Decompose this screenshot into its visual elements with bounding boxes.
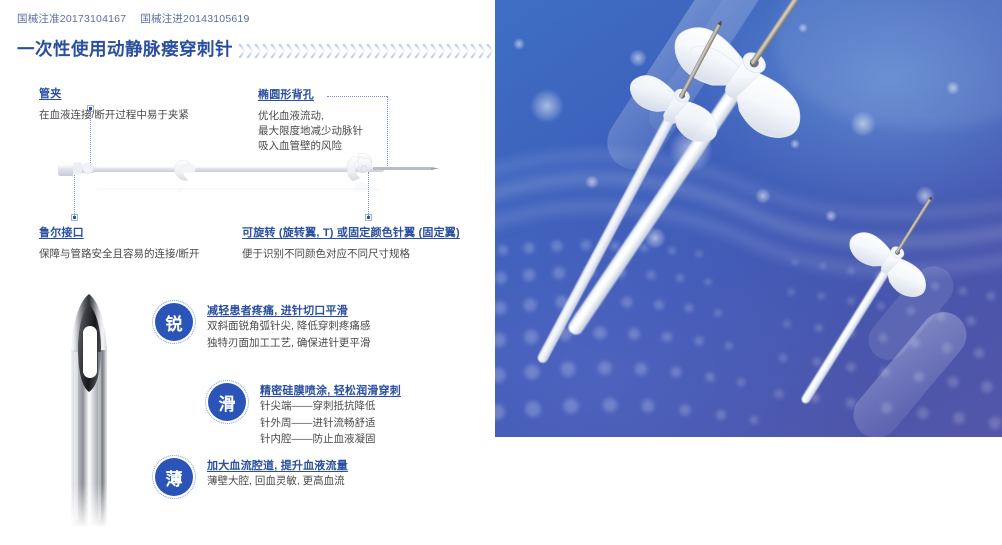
feature-sharp-body: 减轻患者疼痛, 进针切口平滑 双斜面锐角弧针尖, 降低穿刺疼痛感 独特刃面加工工… [207,300,370,351]
badge-thin-label: 薄 [155,458,193,496]
feature-smooth-line-1: 针尖端——穿刺抵抗降低 [260,399,401,415]
feature-sharp-line-1: 双斜面锐角弧针尖, 降低穿刺疼痛感 [207,319,370,335]
needle-tip-closeup-image [58,288,136,538]
callout-luer: 鲁尔接口 保障与管路安全且容易的连接/断开 [39,224,199,262]
callout-wings-title: 可旋转 (旋转翼, T) 或固定颜色针翼 (固定翼) [242,224,460,240]
page-title: 一次性使用动静脉瘘穿刺针 [17,36,233,61]
feature-smooth-badge: 滑 [205,380,249,424]
callout-clamp-line-1: 在血液连接/断开过程中易于夹紧 [39,108,189,123]
feature-thin-line-1: 薄壁大腔, 回血灵敏, 更高血流 [207,474,348,490]
feature-smooth-body: 精密硅膜喷涂, 轻松润滑穿刺 针尖端——穿刺抵抗降低 针外周——进针流畅舒适 针… [260,380,401,448]
callout-back-hole: 椭圆形背孔 优化血液流动, 最大限度地减少动脉针 吸入血管壁的风险 [258,86,363,154]
callout-luer-title: 鲁尔接口 [39,224,199,240]
callout-wings-line-1: 便于识别不同颜色对应不同尺寸规格 [242,247,460,262]
left-content-panel: 国械注准20173104167国械注进20143105619 一次性使用动静脉瘘… [0,0,495,545]
badge-sharp-label: 锐 [155,303,193,341]
registration-numbers: 国械注准20173104167国械注进20143105619 [17,11,264,26]
header-row: 一次性使用动静脉瘘穿刺针 [17,36,482,64]
feature-smooth-title: 精密硅膜喷涂, 轻松润滑穿刺 [260,382,401,398]
feature-sharp-line-2: 独特刃面加工工艺, 确保进针更平滑 [207,336,370,352]
callout-clamp: 管夹 在血液连接/断开过程中易于夹紧 [39,85,189,123]
badge-smooth-label: 滑 [208,383,246,421]
registration-number-1: 国械注准20173104167 [17,13,126,25]
registration-number-2: 国械注进20143105619 [140,13,249,25]
feature-smooth-line-3: 针内腔——防止血液凝固 [260,432,401,448]
feature-sharp: 锐 减轻患者疼痛, 进针切口平滑 双斜面锐角弧针尖, 降低穿刺疼痛感 独特刃面加… [152,300,370,351]
feature-thin-title: 加大血流腔道, 提升血液流量 [207,457,348,473]
feature-sharp-title: 减轻患者疼痛, 进针切口平滑 [207,302,370,318]
fistula-needle-schematic [55,150,455,230]
right-product-panel: 一次性使用 动静脉瘘穿刺针 [495,0,1002,545]
callout-back-hole-line-2: 最大限度地减少动脉针 [258,124,363,139]
callout-clamp-title: 管夹 [39,85,189,101]
brochure-page: 国械注准20173104167国械注进20143105619 一次性使用动静脉瘘… [0,0,1002,545]
feature-thin: 薄 加大血流腔道, 提升血液流量 薄壁大腔, 回血灵敏, 更高血流 [152,455,348,499]
callout-back-hole-line-1: 优化血液流动, [258,109,363,124]
feature-thin-body: 加大血流腔道, 提升血液流量 薄壁大腔, 回血灵敏, 更高血流 [207,455,348,490]
chevron-right-repeat-icon [239,41,499,61]
callout-luer-line-1: 保障与管路安全且容易的连接/断开 [39,247,199,262]
feature-thin-badge: 薄 [152,455,196,499]
feature-sharp-badge: 锐 [152,300,196,344]
callout-back-hole-title: 椭圆形背孔 [258,86,363,102]
callout-wings: 可旋转 (旋转翼, T) 或固定颜色针翼 (固定翼) 便于识别不同颜色对应不同尺… [242,224,460,262]
callout-back-hole-line-3: 吸入血管壁的风险 [258,139,363,154]
feature-smooth: 滑 精密硅膜喷涂, 轻松润滑穿刺 针尖端——穿刺抵抗降低 针外周——进针流畅舒适… [205,380,401,448]
product-photo [495,0,1002,437]
feature-smooth-line-2: 针外周——进针流畅舒适 [260,416,401,432]
